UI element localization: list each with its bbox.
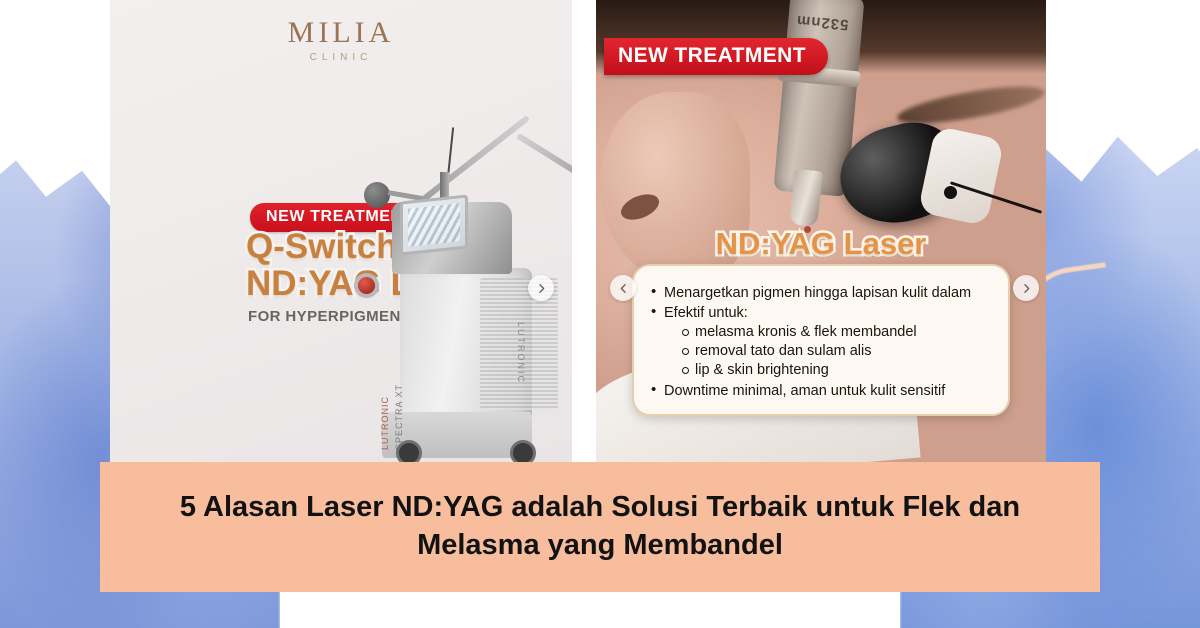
treatment-benefit-sublist: melasma kronis & flek membandel removal … bbox=[664, 323, 994, 380]
promo-background: MILIA CLINIC NEW TREATMENT Q-Switched ND… bbox=[110, 0, 572, 462]
laser-machine-wheel bbox=[396, 440, 422, 462]
list-item: Downtime minimal, aman untuk kulit sensi… bbox=[650, 382, 994, 400]
chevron-right-icon bbox=[535, 282, 548, 295]
prev-arrow-right-panel[interactable] bbox=[610, 275, 636, 301]
sub-list-item: removal tato dan sulam alis bbox=[682, 342, 994, 361]
clinic-logo-name: MILIA bbox=[110, 18, 572, 48]
laser-arm-lower bbox=[408, 115, 530, 212]
page-canvas: MILIA CLINIC NEW TREATMENT Q-Switched ND… bbox=[0, 0, 1200, 628]
next-arrow-left-panel[interactable] bbox=[528, 275, 554, 301]
treatment-benefit-list: Menargetkan pigmen hingga lapisan kulit … bbox=[650, 284, 994, 400]
caption-bar: 5 Alasan Laser ND:YAG adalah Solusi Terb… bbox=[100, 462, 1100, 592]
promo-slide-left[interactable]: MILIA CLINIC NEW TREATMENT Q-Switched ND… bbox=[110, 0, 572, 462]
treatment-info-card: ND:YAG Laser Menargetkan pigmen hingga l… bbox=[632, 264, 1010, 416]
laser-machine-brand-text: LUTRONIC bbox=[516, 322, 526, 384]
laser-arm-upper bbox=[516, 133, 572, 189]
laser-machine-head bbox=[392, 202, 512, 274]
treatment-detail-slide-right[interactable]: 532nm NEW TREATMENT ND:YAG Laser Menarge… bbox=[596, 0, 1046, 462]
laser-machine-series-text: SPECTRA XT bbox=[394, 384, 404, 450]
clinic-logo: MILIA CLINIC bbox=[110, 18, 572, 63]
laser-arm-tip-icon bbox=[364, 182, 390, 208]
next-arrow-right-panel[interactable] bbox=[1013, 275, 1039, 301]
laser-machine-emergency-knob bbox=[358, 277, 375, 294]
laser-handpiece-tip bbox=[789, 169, 823, 228]
list-item: Menargetkan pigmen hingga lapisan kulit … bbox=[650, 284, 994, 302]
laser-machine-wheel bbox=[510, 440, 536, 462]
list-item: Efektif untuk: melasma kronis & flek mem… bbox=[650, 304, 994, 380]
laser-machine-model-text: LUTRONIC bbox=[380, 396, 390, 450]
laser-machine-illustration: LUTRONIC LUTRONIC SPECTRA XT bbox=[340, 62, 572, 462]
new-treatment-badge-right: NEW TREATMENT bbox=[604, 38, 828, 75]
treatment-card-title: ND:YAG Laser bbox=[634, 226, 1008, 262]
chevron-left-icon bbox=[617, 282, 630, 295]
chevron-right-icon bbox=[1020, 282, 1033, 295]
caption-title: 5 Alasan Laser ND:YAG adalah Solusi Terb… bbox=[124, 489, 1076, 564]
sub-list-item: melasma kronis & flek membandel bbox=[682, 323, 994, 342]
sub-list-item: lip & skin brightening bbox=[682, 361, 994, 380]
laser-machine-touchscreen bbox=[400, 194, 468, 255]
list-item-text: Menargetkan pigmen hingga lapisan kulit … bbox=[664, 285, 971, 301]
eye-shield-strap-knot bbox=[944, 186, 957, 199]
list-item-text: Downtime minimal, aman untuk kulit sensi… bbox=[664, 383, 945, 399]
list-item-text: Efektif untuk: bbox=[664, 305, 748, 321]
